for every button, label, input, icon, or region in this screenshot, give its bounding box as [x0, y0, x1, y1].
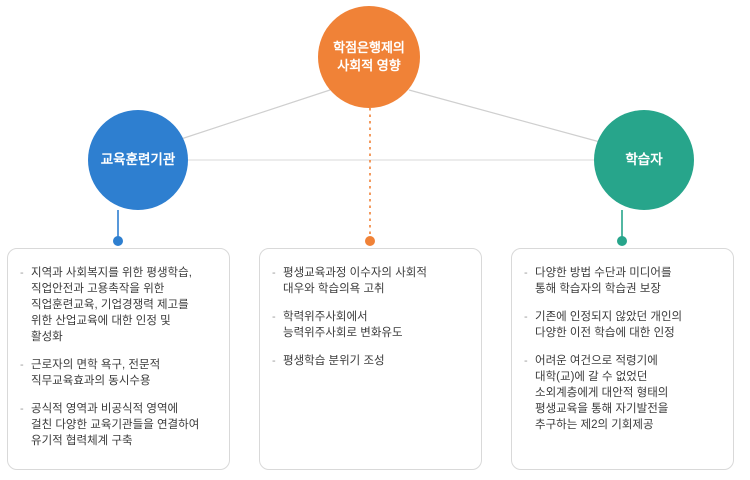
bullet-icon: - — [20, 265, 31, 281]
panel-education-institutions: - 지역과 사회복지를 위한 평생학습, 직업안전과 고용촉작을 위한 직업훈련… — [7, 248, 230, 470]
list-item: - 기존에 인정되지 않았던 개인의 다양한 이전 학습에 대한 인정 — [524, 309, 719, 341]
list-item: - 지역과 사회복지를 위한 평생학습, 직업안전과 고용촉작을 위한 직업훈련… — [20, 265, 215, 345]
node-learners-label: 학습자 — [625, 151, 662, 169]
list-item: - 평생학습 분위기 조성 — [272, 353, 467, 369]
connector-top-right — [409, 90, 600, 142]
list-item-text: 근로자의 면학 욕구, 전문적 직무교육효과의 동시수용 — [31, 357, 215, 389]
panel-social-impact: - 평생교육과정 이수자의 사회적 대우와 학습의욕 고취 - 학력위주사회에서… — [259, 248, 482, 470]
list-item: - 근로자의 면학 욕구, 전문적 직무교육효과의 동시수용 — [20, 357, 215, 389]
connector-top-left — [178, 90, 330, 140]
list-item-text: 기존에 인정되지 않았던 개인의 다양한 이전 학습에 대한 인정 — [535, 309, 719, 341]
list-item: - 어려운 여건으로 적령기에 대학(교)에 갈 수 없었던 소외계층에게 대안… — [524, 353, 719, 433]
list-item-text: 지역과 사회복지를 위한 평생학습, 직업안전과 고용촉작을 위한 직업훈련교육… — [31, 265, 215, 345]
connector-dot-middle — [365, 236, 375, 246]
list-item-text: 학력위주사회에서 능력위주사회로 변화유도 — [283, 309, 467, 341]
bullet-icon: - — [524, 309, 535, 325]
panel-learners: - 다양한 방법 수단과 미디어를 통해 학습자의 학습권 보장 - 기존에 인… — [511, 248, 734, 470]
list-item-text: 어려운 여건으로 적령기에 대학(교)에 갈 수 없었던 소외계층에게 대안적 … — [535, 353, 719, 433]
list-item-text: 평생교육과정 이수자의 사회적 대우와 학습의욕 고취 — [283, 265, 467, 297]
node-learners[interactable]: 학습자 — [594, 110, 694, 210]
node-education-institutions[interactable]: 교육훈련기관 — [88, 110, 188, 210]
list-item-text: 다양한 방법 수단과 미디어를 통해 학습자의 학습권 보장 — [535, 265, 719, 297]
list-item: - 평생교육과정 이수자의 사회적 대우와 학습의욕 고취 — [272, 265, 467, 297]
bullet-icon: - — [20, 401, 31, 417]
bullet-icon: - — [524, 353, 535, 369]
diagram-canvas: 학점은행제의 사회적 영향 교육훈련기관 학습자 - 지역과 사회복지를 위한 … — [0, 0, 750, 480]
list-item-text: 공식적 영역과 비공식적 영역에 걸친 다양한 교육기관들을 연결하여 유기적 … — [31, 401, 215, 449]
node-social-impact-label: 학점은행제의 사회적 영향 — [333, 39, 405, 74]
bullet-icon: - — [272, 353, 283, 369]
node-social-impact[interactable]: 학점은행제의 사회적 영향 — [318, 6, 420, 108]
list-item: - 학력위주사회에서 능력위주사회로 변화유도 — [272, 309, 467, 341]
bullet-icon: - — [524, 265, 535, 281]
connector-dot-right — [617, 236, 627, 246]
list-item-text: 평생학습 분위기 조성 — [283, 353, 467, 369]
bullet-icon: - — [272, 309, 283, 325]
connector-dot-left — [113, 236, 123, 246]
list-item: - 다양한 방법 수단과 미디어를 통해 학습자의 학습권 보장 — [524, 265, 719, 297]
list-item: - 공식적 영역과 비공식적 영역에 걸친 다양한 교육기관들을 연결하여 유기… — [20, 401, 215, 449]
bullet-icon: - — [20, 357, 31, 373]
bullet-icon: - — [272, 265, 283, 281]
node-education-institutions-label: 교육훈련기관 — [101, 151, 176, 169]
